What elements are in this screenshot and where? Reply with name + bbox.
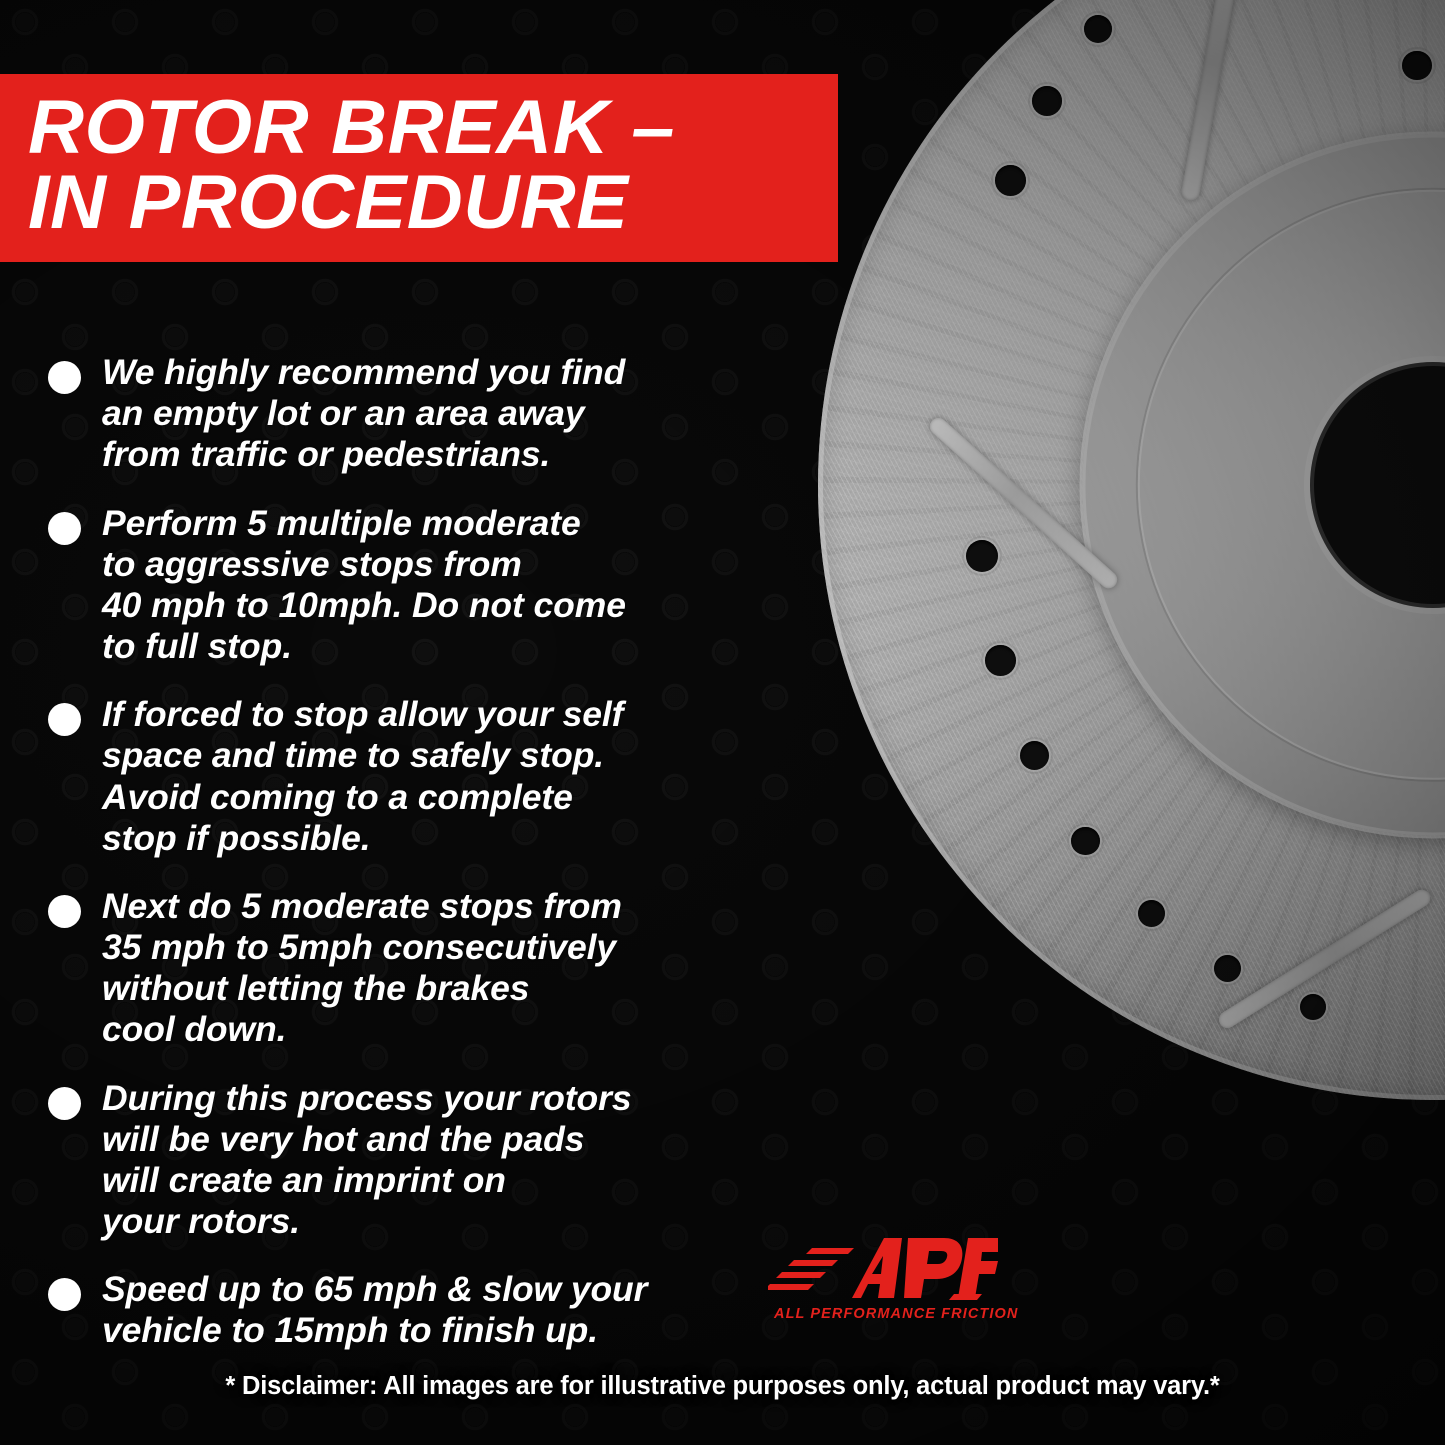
poster-canvas: ROTOR BREAK – IN PROCEDURE We highly rec… <box>0 0 1445 1445</box>
bullet-dot-icon <box>48 1278 81 1311</box>
list-item: Perform 5 multiple moderate to aggressiv… <box>48 503 778 668</box>
disclaimer-text: * Disclaimer: All images are for illustr… <box>0 1372 1445 1401</box>
bullet-dot-icon <box>48 1087 81 1120</box>
bullet-dot-icon <box>48 361 81 394</box>
bullet-dot-icon <box>48 895 81 928</box>
list-item-text: Perform 5 multiple moderate to aggressiv… <box>102 503 626 668</box>
page-title-line-2: IN PROCEDURE <box>28 165 854 240</box>
page-title-line-1: ROTOR BREAK – <box>28 90 854 165</box>
list-item-text: Next do 5 moderate stops from 35 mph to … <box>102 886 622 1051</box>
title-banner: ROTOR BREAK – IN PROCEDURE <box>0 74 838 262</box>
list-item: Speed up to 65 mph & slow your vehicle t… <box>48 1269 778 1351</box>
list-item-text: If forced to stop allow your self space … <box>102 694 623 859</box>
bullet-dot-icon <box>48 703 81 736</box>
list-item: Next do 5 moderate stops from 35 mph to … <box>48 886 778 1051</box>
list-item: If forced to stop allow your self space … <box>48 694 778 859</box>
list-item-text: During this process your rotors will be … <box>102 1078 632 1243</box>
apf-logo: ALL PERFORMANCE FRICTION <box>768 1232 998 1342</box>
list-item: We highly recommend you find an empty lo… <box>48 352 778 476</box>
list-item-text: Speed up to 65 mph & slow your vehicle t… <box>102 1269 647 1351</box>
bullet-dot-icon <box>48 512 81 545</box>
list-item-text: We highly recommend you find an empty lo… <box>102 352 625 476</box>
apf-logo-tagline: ALL PERFORMANCE FRICTION <box>774 1306 998 1322</box>
procedure-step-list: We highly recommend you find an empty lo… <box>48 352 778 1379</box>
list-item: During this process your rotors will be … <box>48 1078 778 1243</box>
apf-logo-icon <box>768 1232 998 1310</box>
